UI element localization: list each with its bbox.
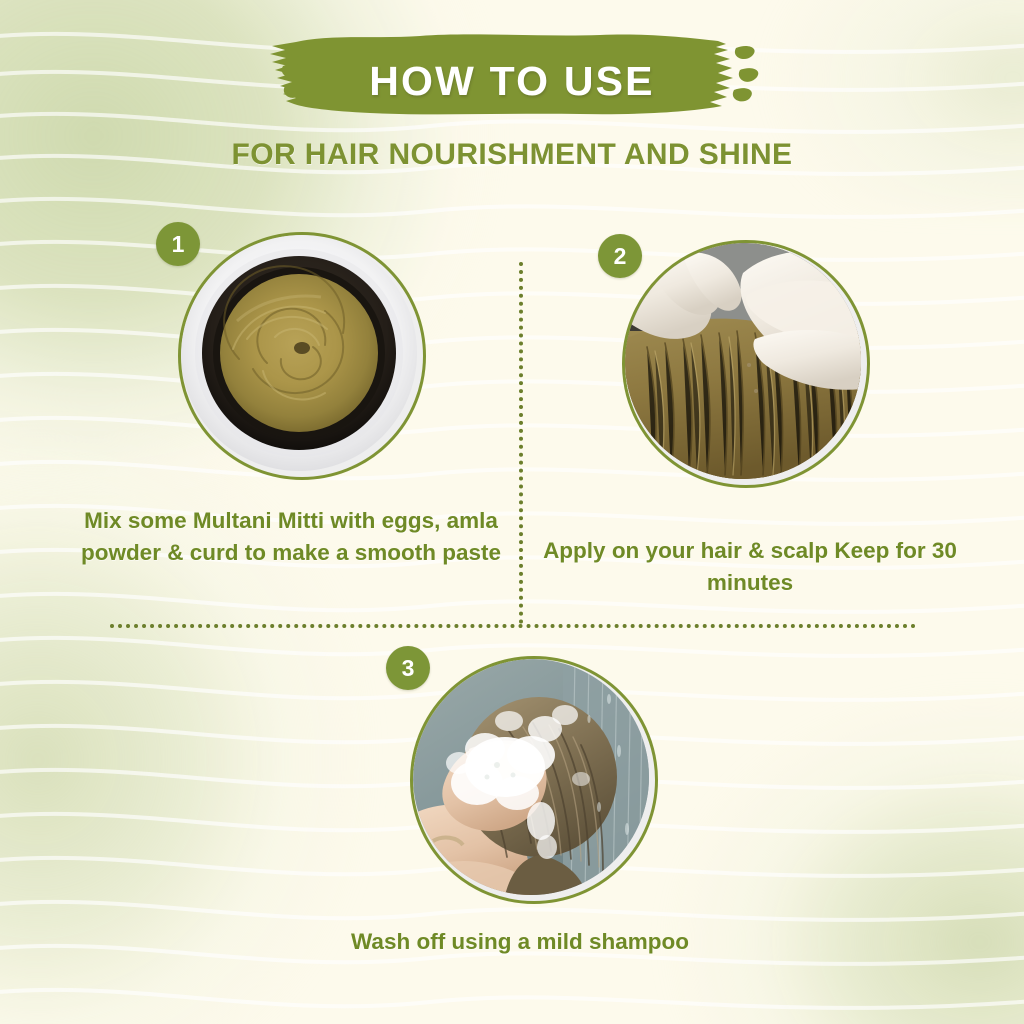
how-to-use-infographic: HOW TO USE FOR HAIR NOURISHMENT AND SHIN… (0, 0, 1024, 1024)
page-subtitle: FOR HAIR NOURISHMENT AND SHINE (0, 138, 1024, 172)
vertical-dashed-divider (519, 262, 523, 624)
step-caption-1: Mix some Multani Mitti with eggs, amla p… (76, 505, 506, 569)
step-caption-2: Apply on your hair & scalp Keep for 30 m… (540, 535, 960, 599)
step-image-1 (178, 232, 426, 480)
header: HOW TO USE FOR HAIR NOURISHMENT AND SHIN… (0, 0, 1024, 120)
step-badge-2: 2 (598, 234, 642, 278)
title-brush-banner: HOW TO USE (0, 0, 1024, 120)
step-photo-applying-paste-to-hair (625, 243, 867, 485)
step-3: 3 (410, 656, 658, 904)
horizontal-dashed-divider (110, 624, 916, 628)
step-photo-multani-mitti-bowl (181, 235, 423, 477)
step-image-2 (622, 240, 870, 488)
page-title: HOW TO USE (0, 58, 1024, 105)
step-image-3 (410, 656, 658, 904)
step-caption-3: Wash off using a mild shampoo (330, 926, 710, 958)
watercolor-wash-bottom-right (620, 660, 1024, 1024)
step-photo-washing-hair-with-shampoo (413, 659, 655, 901)
step-2: 2 (622, 240, 870, 488)
step-badge-1: 1 (156, 222, 200, 266)
step-1: 1 (178, 232, 426, 480)
step-badge-3: 3 (386, 646, 430, 690)
